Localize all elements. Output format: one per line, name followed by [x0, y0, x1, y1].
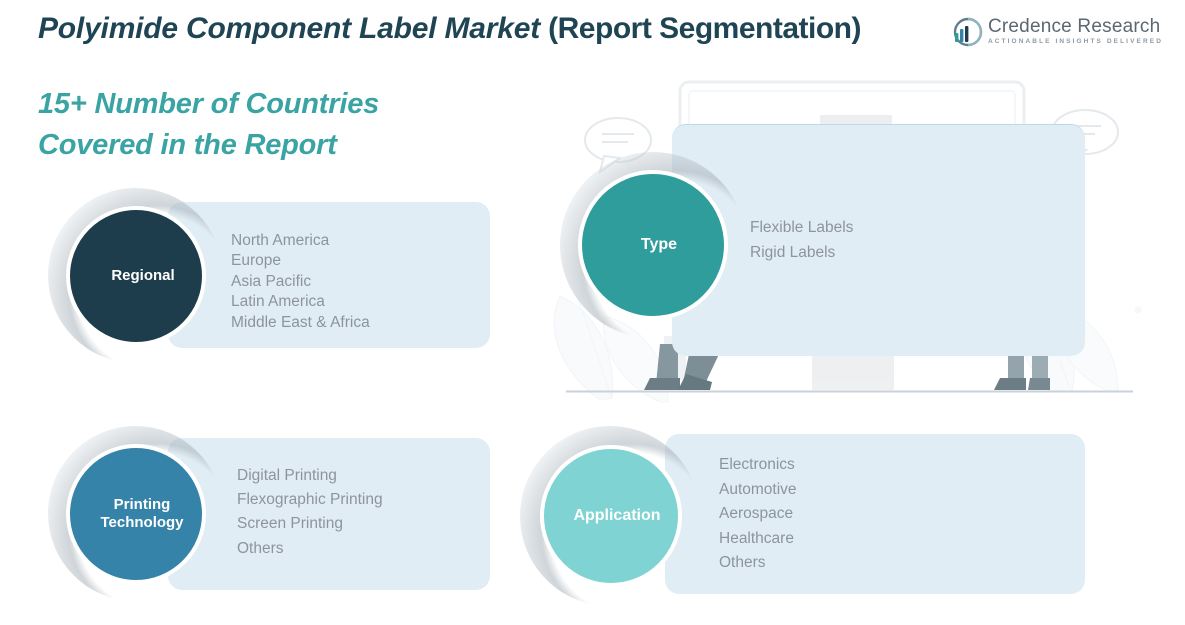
page-title: Polyimide Component Label Market (Report…	[38, 10, 861, 48]
list-item: Flexible Labels	[750, 215, 853, 240]
list-item: Screen Printing	[237, 512, 383, 536]
segment-item-list: North America Europe Asia Pacific Latin …	[231, 231, 370, 333]
list-item: Electronics	[719, 453, 797, 478]
subtitle-line-2: Covered in the Report	[38, 125, 379, 166]
segment-circle-label: Printing Technology	[100, 496, 183, 531]
list-item: Rigid Labels	[750, 240, 853, 265]
brand-logo[interactable]: Credence Research Actionable Insights De…	[949, 14, 1163, 50]
segment-circle[interactable]: Type	[578, 170, 728, 320]
segment-circle-label: Type	[641, 236, 677, 255]
list-item: Others	[237, 537, 383, 561]
list-item: Latin America	[231, 292, 370, 312]
credence-circle-mark-icon	[949, 15, 983, 49]
subtitle-line-1: 15+ Number of Countries	[38, 84, 379, 125]
segment-circle[interactable]: Printing Technology	[66, 444, 206, 584]
segment-card-application[interactable]: Electronics Automotive Aerospace Healthc…	[520, 424, 1085, 604]
segment-card-regional[interactable]: North America Europe Asia Pacific Latin …	[40, 186, 490, 366]
segment-card-type[interactable]: Flexible Labels Rigid Labels Type	[560, 124, 1085, 356]
segment-circle[interactable]: Application	[540, 445, 682, 587]
list-item: Automotive	[719, 478, 797, 503]
subtitle: 15+ Number of Countries Covered in the R…	[38, 84, 379, 166]
list-item: Aerospace	[719, 502, 797, 527]
list-item: Others	[719, 551, 797, 576]
header: Polyimide Component Label Market (Report…	[0, 0, 1185, 58]
page-title-main: Polyimide Component Label Market	[38, 12, 548, 45]
list-item: Europe	[231, 251, 370, 271]
list-item: Healthcare	[719, 527, 797, 552]
page-title-sub: (Report Segmentation)	[548, 12, 861, 45]
list-item: Asia Pacific	[231, 272, 370, 292]
list-item: Digital Printing	[237, 464, 383, 488]
logo-tagline: Actionable Insights Delivered	[988, 37, 1163, 47]
segment-circle-label: Regional	[111, 267, 174, 285]
list-item: Middle East & Africa	[231, 313, 370, 333]
segment-item-list: Flexible Labels Rigid Labels	[750, 215, 853, 265]
segment-item-list: Digital Printing Flexographic Printing S…	[237, 464, 383, 561]
segment-circle[interactable]: Regional	[66, 206, 206, 346]
list-item: Flexographic Printing	[237, 488, 383, 512]
segment-item-list: Electronics Automotive Aerospace Healthc…	[719, 453, 797, 576]
logo-name: Credence Research	[988, 17, 1163, 37]
list-item: North America	[231, 231, 370, 251]
segment-card-printing-technology[interactable]: Digital Printing Flexographic Printing S…	[40, 424, 490, 604]
segment-circle-label: Application	[573, 507, 660, 526]
